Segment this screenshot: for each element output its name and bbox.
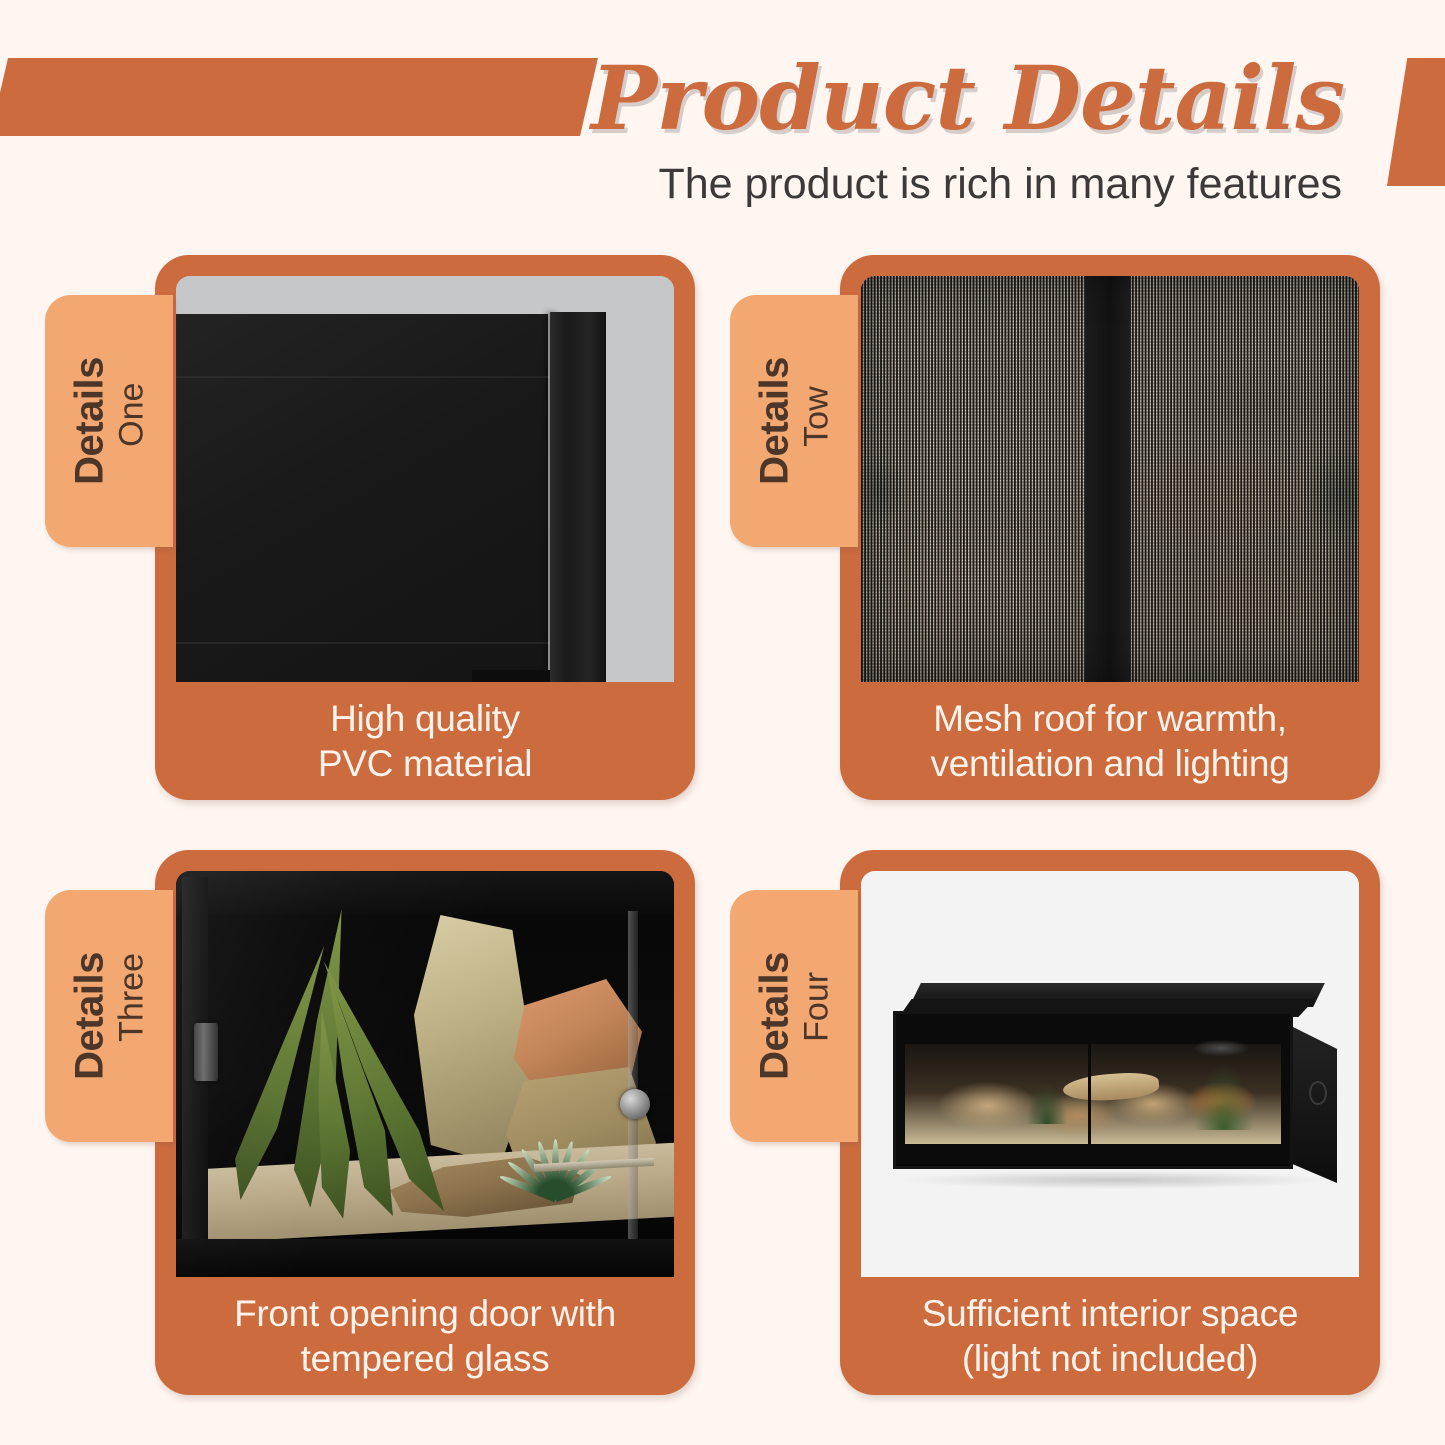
detail-tab-one-labels: Details One (70, 357, 149, 485)
bearded-dragon (1062, 1071, 1160, 1104)
detail-tab-one[interactable]: Details One (45, 295, 173, 547)
detail-tab-four[interactable]: Details Four (730, 890, 858, 1142)
detail-tab-four-labels: Details Four (755, 952, 834, 1080)
detail-card-four-caption-line2: (light not included) (962, 1336, 1258, 1381)
detail-card-one-caption-line1: High quality (330, 696, 520, 741)
page-subtitle: The product is rich in many features (0, 163, 1382, 206)
detail-card-three[interactable]: Front opening door with tempered glass (155, 850, 695, 1395)
detail-tab-three-labels: Details Three (70, 952, 149, 1080)
side-vent-icon (1309, 1081, 1327, 1105)
detail-card-two-caption-line1: Mesh roof for warmth, (933, 696, 1287, 741)
detail-card-two-caption-line2: ventilation and lighting (931, 741, 1290, 786)
detail-tab-four-number: Four (800, 972, 834, 1042)
detail-card-two-caption: Mesh roof for warmth, ventilation and li… (840, 682, 1380, 800)
detail-cell-three: Details Three (45, 850, 735, 1410)
pvc-panel-corner-photo (176, 276, 674, 682)
detail-card-one[interactable]: High quality PVC material (155, 255, 695, 800)
mesh-roof-photo (861, 276, 1359, 682)
detail-card-one-caption: High quality PVC material (155, 682, 695, 800)
page-title: Product Details (0, 54, 1382, 142)
terrarium-product-photo (861, 871, 1359, 1277)
detail-cell-four: Details Four (730, 850, 1420, 1410)
details-grid: Details One High quality PVC material (0, 250, 1445, 1425)
header-accent-bar-right (1387, 58, 1445, 186)
detail-tab-three-number: Three (115, 953, 149, 1042)
detail-tab-three-word: Details (70, 952, 110, 1080)
detail-cell-two: Details Tow Mesh roof for warmth, ventil… (730, 255, 1420, 815)
detail-tab-one-word: Details (70, 357, 110, 485)
detail-tab-two-labels: Details Tow (755, 357, 834, 485)
detail-tab-two-number: Tow (800, 386, 834, 446)
detail-tab-two-word: Details (755, 357, 795, 485)
detail-card-two[interactable]: Mesh roof for warmth, ventilation and li… (840, 255, 1380, 800)
detail-tab-four-word: Details (755, 952, 795, 1080)
detail-card-four-caption: Sufficient interior space (light not inc… (840, 1277, 1380, 1395)
detail-card-four[interactable]: Sufficient interior space (light not inc… (840, 850, 1380, 1395)
front-opening-door-photo (176, 871, 674, 1277)
detail-card-three-caption: Front opening door with tempered glass (155, 1277, 695, 1395)
succulent-plant (506, 1093, 602, 1203)
detail-card-four-caption-line1: Sufficient interior space (922, 1291, 1298, 1336)
door-lock-icon (620, 1089, 650, 1119)
door-handle (194, 1023, 218, 1081)
detail-tab-one-number: One (115, 383, 149, 447)
page-header: Product Details The product is rich in m… (0, 0, 1445, 235)
detail-cell-one: Details One High quality PVC material (45, 255, 735, 815)
brand-logo (1194, 1040, 1248, 1056)
detail-card-three-caption-line1: Front opening door with (234, 1291, 616, 1336)
detail-tab-two[interactable]: Details Tow (730, 295, 858, 547)
detail-card-one-caption-line2: PVC material (318, 741, 532, 786)
detail-card-three-caption-line2: tempered glass (301, 1336, 550, 1381)
detail-tab-three[interactable]: Details Three (45, 890, 173, 1142)
